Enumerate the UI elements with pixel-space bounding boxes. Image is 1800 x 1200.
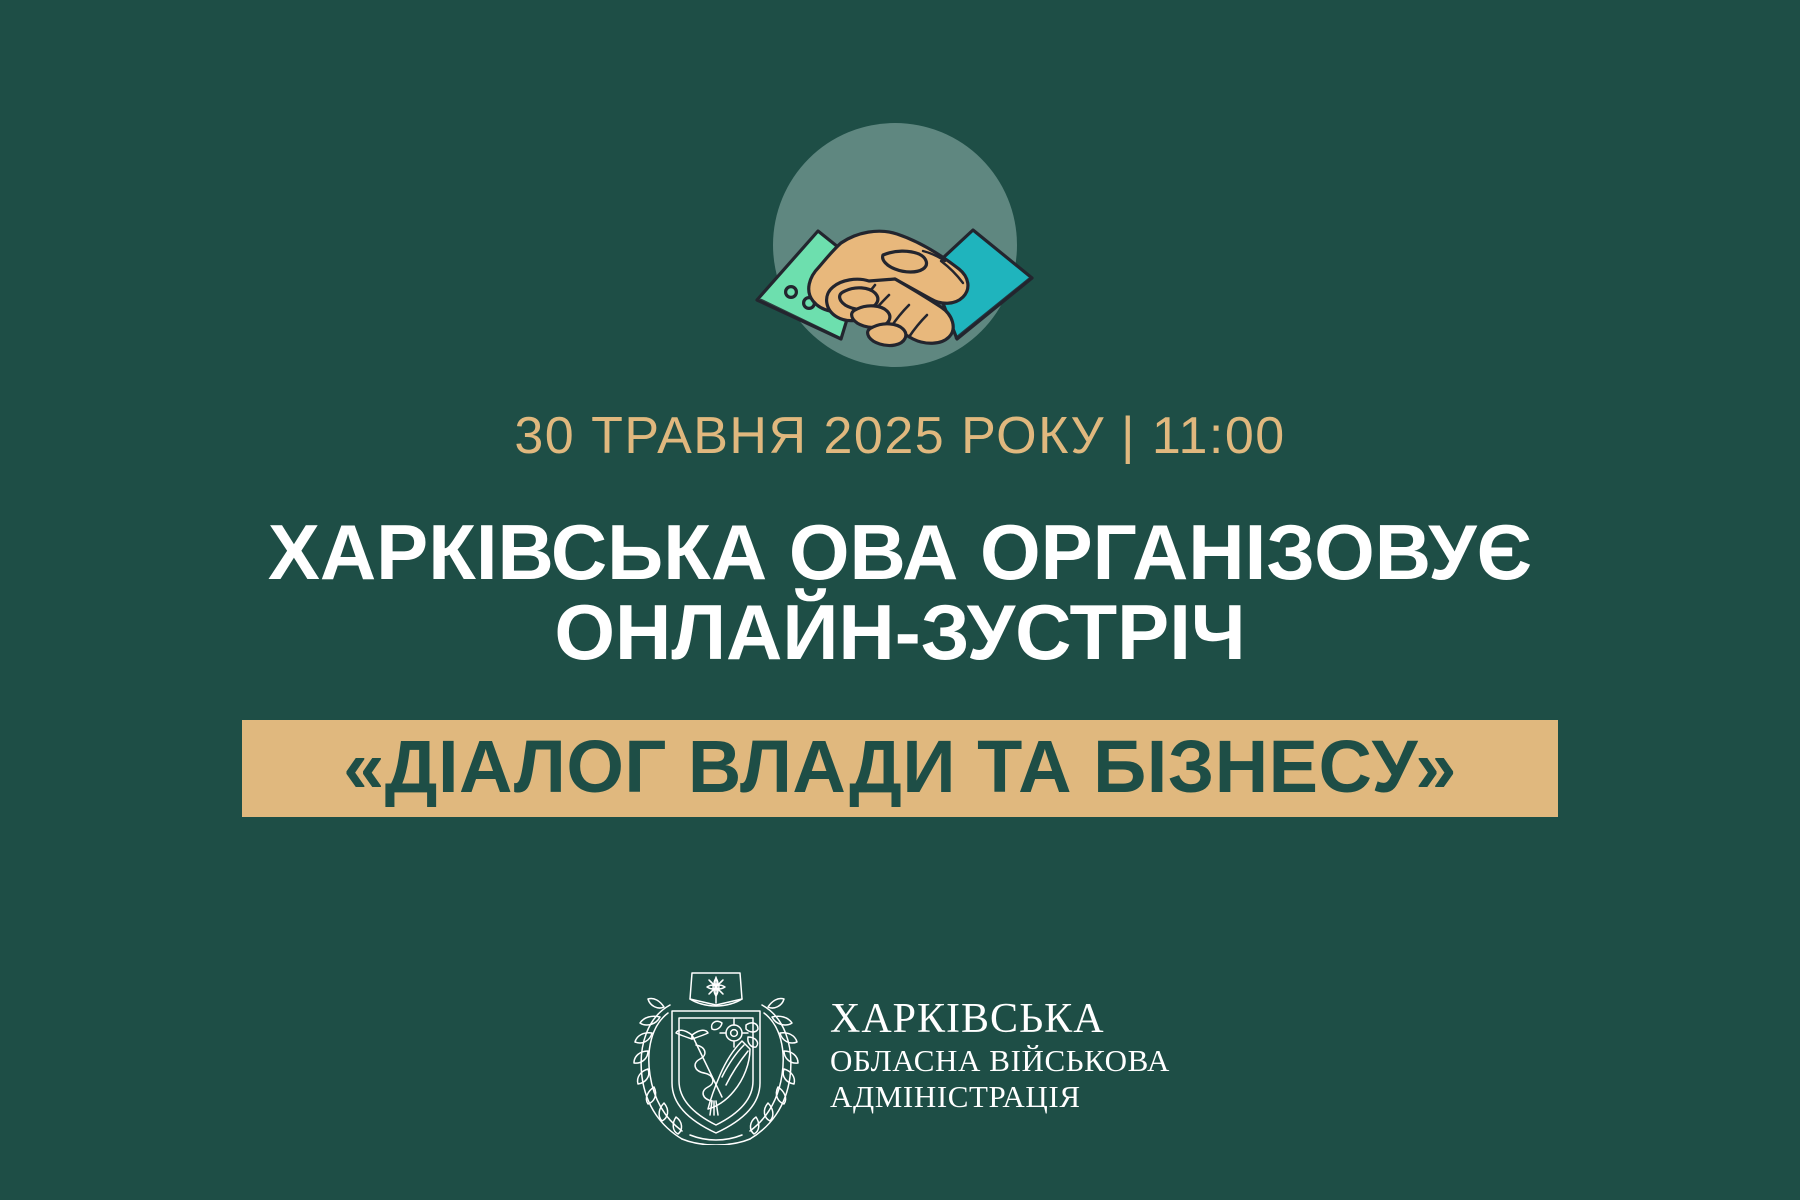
headline-line-2: ОНЛАЙН-ЗУСТРІЧ	[0, 592, 1800, 672]
cornucopia	[708, 1041, 750, 1109]
event-datetime: 30 ТРАВНЯ 2025 РОКУ | 11:00	[0, 408, 1800, 465]
event-title-text: «ДІАЛОГ ВЛАДИ ТА БІЗНЕСУ»	[343, 730, 1457, 804]
handshake-illustration	[745, 95, 1045, 395]
headline-line-1: ХАРКІВСЬКА ОВА ОРГАНІЗОВУЄ	[0, 512, 1800, 592]
finger-3	[868, 324, 906, 346]
kharkiv-oblast-coat-of-arms-icon	[630, 965, 802, 1145]
org-line-2: ОБЛАСНА ВІЙСЬКОВА	[830, 1043, 1170, 1079]
org-line-1: ХАРКІВСЬКА	[830, 995, 1170, 1044]
event-title-banner: «ДІАЛОГ ВЛАДИ ТА БІЗНЕСУ»	[242, 720, 1558, 817]
wreath-right	[750, 998, 798, 1139]
organization-name: ХАРКІВСЬКА ОБЛАСНА ВІЙСЬКОВА АДМІНІСТРАЦ…	[830, 995, 1170, 1116]
wreath-left	[634, 998, 682, 1139]
org-line-3: АДМІНІСТРАЦІЯ	[830, 1079, 1170, 1115]
page-title: ХАРКІВСЬКА ОВА ОРГАНІЗОВУЄ ОНЛАЙН-ЗУСТРІ…	[0, 512, 1800, 673]
organization-logo: ХАРКІВСЬКА ОБЛАСНА ВІЙСЬКОВА АДМІНІСТРАЦ…	[0, 965, 1800, 1145]
poster-canvas: 30 ТРАВНЯ 2025 РОКУ | 11:00 ХАРКІВСЬКА О…	[0, 0, 1800, 1200]
